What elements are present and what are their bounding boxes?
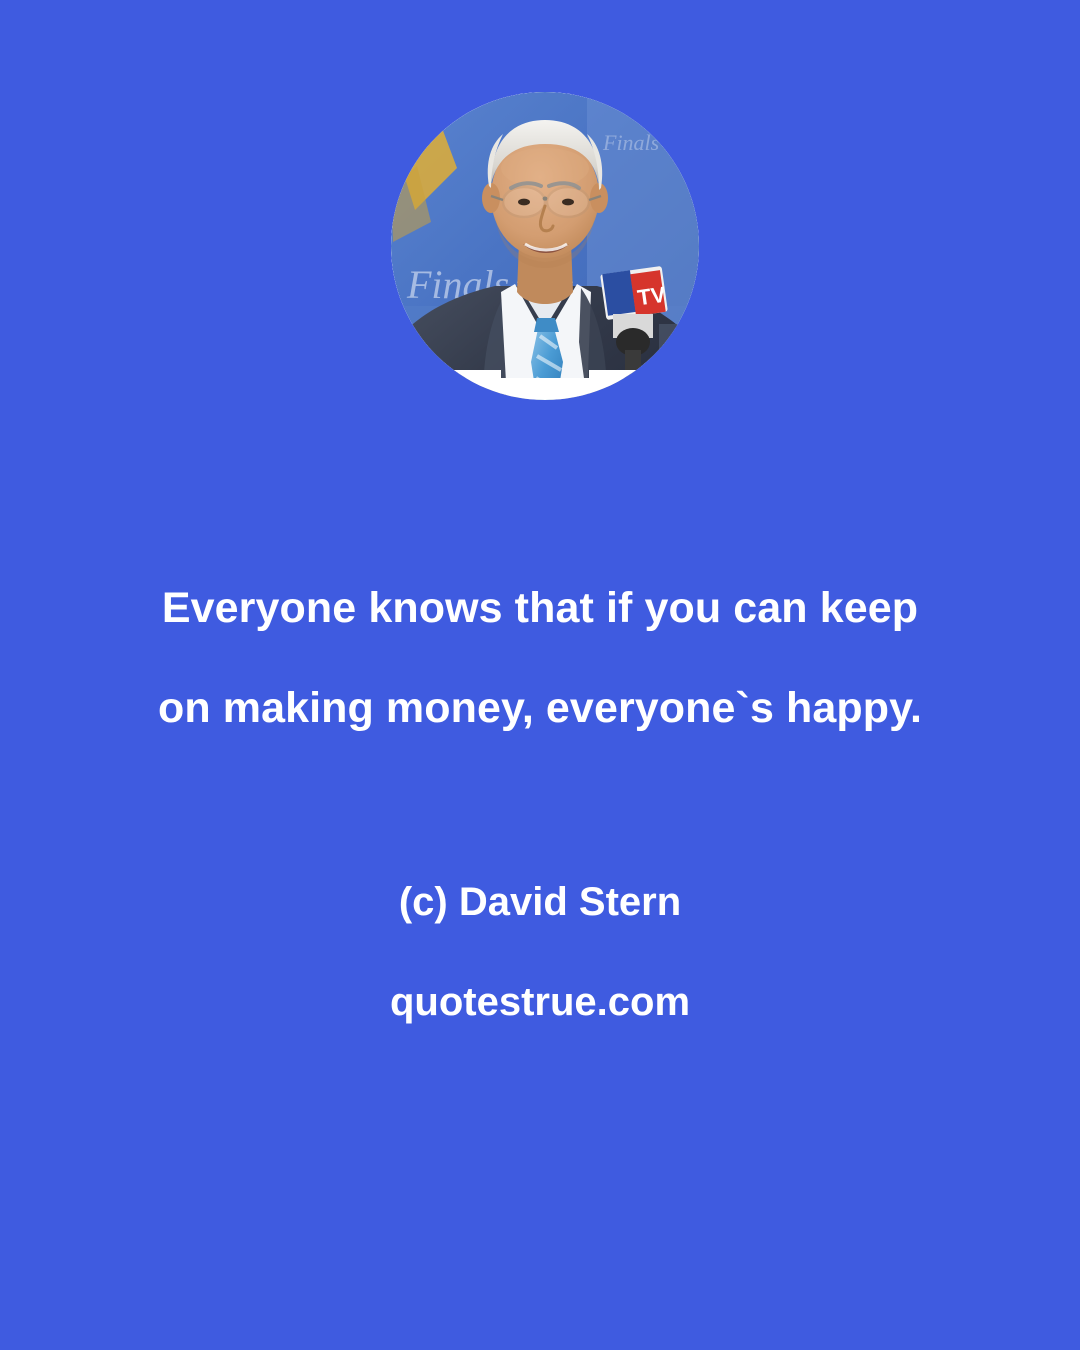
portrait-image: Finals Finals: [391, 92, 699, 400]
quote-author: (c) David Stern: [0, 874, 1080, 930]
author-portrait: Finals Finals: [391, 92, 699, 400]
quote-line-2: on making money, everyone`s happy.: [60, 658, 1020, 758]
svg-text:TV: TV: [636, 282, 668, 311]
source-website: quotestrue.com: [0, 974, 1080, 1030]
quote-line-1: Everyone knows that if you can keep: [60, 558, 1020, 658]
quote-text: Everyone knows that if you can keep on m…: [0, 558, 1080, 758]
svg-text:Finals: Finals: [602, 130, 659, 155]
quote-card: Finals Finals: [0, 0, 1080, 1350]
